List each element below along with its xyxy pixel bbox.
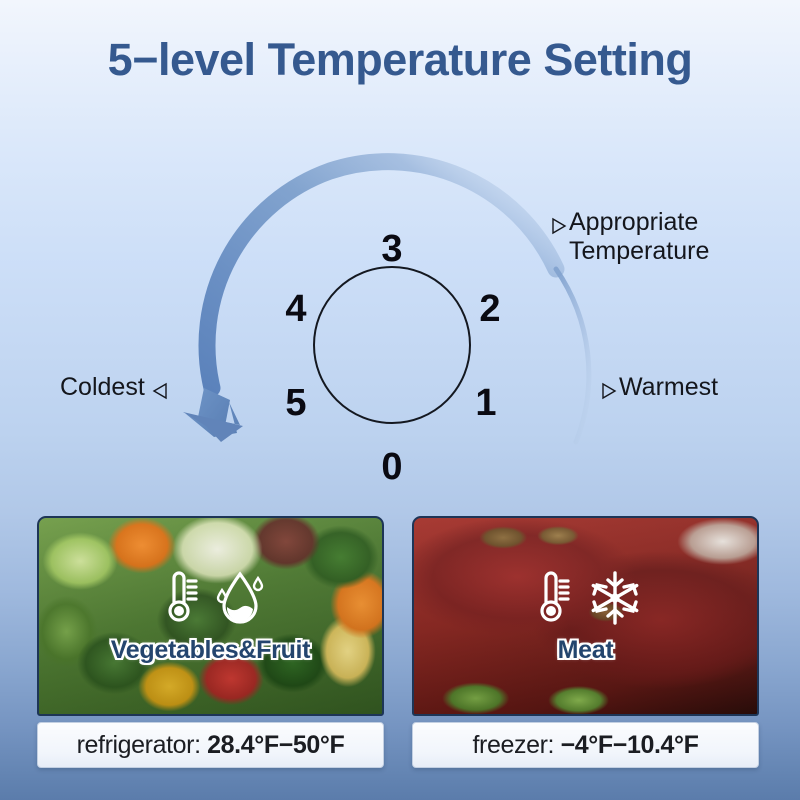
appropriate-line-1: Appropriate [569,208,698,236]
triangle-left-icon [151,378,169,407]
dial-number-4[interactable]: 4 [276,290,316,328]
zone-panels: Vegetables&Fruit refrigerator: 28.4°F−50… [0,516,800,776]
panel-freezer: Meat freezer: −4°F−10.4°F [412,516,759,766]
dial-knob-circle[interactable] [314,267,470,423]
vegetables-and-fruit-photo: Vegetables&Fruit [37,516,384,716]
temp-range-box-freezer: freezer: −4°F−10.4°F [412,722,759,768]
label-warmest-text: Warmest [619,373,718,402]
temp-prefix-refrigerator: refrigerator: [77,731,208,759]
dial-sweep-arrow-tail [556,269,589,442]
label-appropriate-temperature: Appropriate Temperature [550,208,750,266]
thermometer-icon [158,567,202,634]
dial-number-2[interactable]: 2 [470,290,510,328]
temp-range-text-refrigerator: refrigerator: 28.4°F−50°F [77,731,345,760]
raw-meat-photo: Meat [412,516,759,716]
photo-overlay-refrigerator: Vegetables&Fruit [39,518,382,714]
label-warmest: Warmest [600,373,718,407]
dial-sweep-arrow-arc [207,162,556,388]
triangle-right-icon [600,378,618,407]
panel-refrigerator: Vegetables&Fruit refrigerator: 28.4°F−50… [37,516,384,766]
triangle-right-icon [550,213,568,242]
page-title: 5−level Temperature Setting [0,34,800,86]
dial-number-0[interactable]: 0 [372,448,412,486]
snowflake-icon [588,569,642,632]
appropriate-line-2: Temperature [569,237,709,265]
dial-number-5[interactable]: 5 [276,384,316,422]
water-drop-icon [216,568,264,633]
thermometer-icon [530,567,574,634]
infographic-page: 5−level Temperature Setting [0,0,800,800]
temp-value-refrigerator: 28.4°F−50°F [207,731,344,759]
photo-label-vegetables-fruit: Vegetables&Fruit [111,636,310,665]
dial-number-1[interactable]: 1 [466,384,506,422]
temp-prefix-freezer: freezer: [472,731,560,759]
photo-overlay-freezer: Meat [414,518,757,714]
photo-label-meat: Meat [558,636,614,665]
label-appropriate-temperature-text: Appropriate Temperature [569,208,709,266]
label-coldest: Coldest [60,373,169,407]
dial-number-3[interactable]: 3 [372,230,412,268]
temp-range-box-refrigerator: refrigerator: 28.4°F−50°F [37,722,384,768]
temperature-dial-diagram: 3 4 2 5 1 0 Appropriate Temperature [0,130,800,500]
label-coldest-text: Coldest [60,373,145,402]
icon-row-refrigerator [158,567,264,634]
temp-range-text-freezer: freezer: −4°F−10.4°F [472,731,698,760]
icon-row-freezer [530,567,642,634]
temp-value-freezer: −4°F−10.4°F [561,731,699,759]
dial-graphics [0,130,800,500]
